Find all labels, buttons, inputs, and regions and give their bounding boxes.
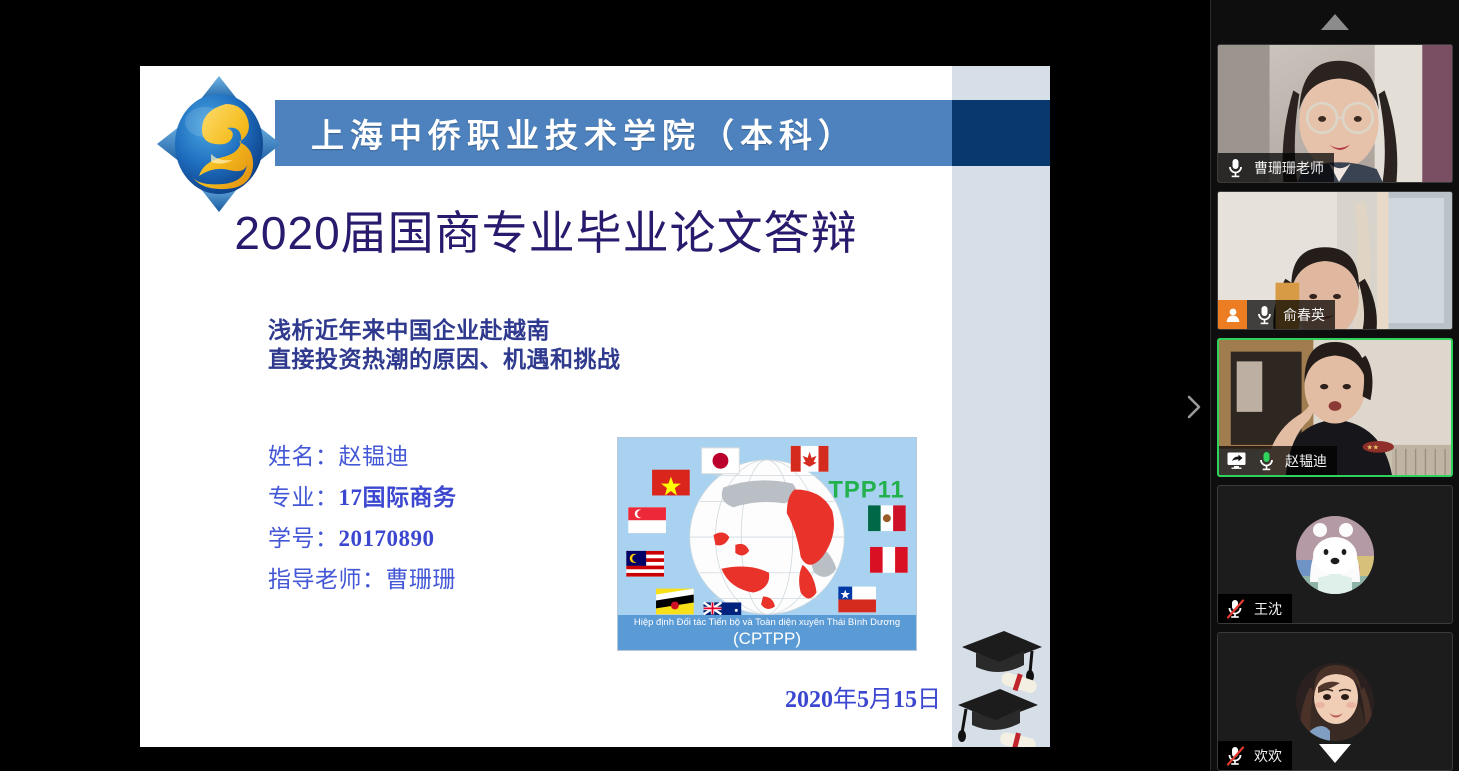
info-value-major: 17国际商务	[339, 485, 457, 510]
info-value-advisor: 曹珊珊	[386, 567, 457, 592]
info-value-student-id: 20170890	[339, 526, 435, 551]
info-row-major: 专业：17国际商务	[268, 477, 457, 518]
host-badge	[1218, 300, 1247, 329]
info-value-name: 赵韫迪	[339, 444, 410, 469]
triangle-down-icon	[1319, 744, 1351, 763]
app-root: 上海中侨职业技术学院（本科）	[0, 0, 1459, 771]
participant-badge-bar-2: 赵韫迪	[1219, 446, 1337, 475]
university-name: 上海中侨职业技术学院（本科）	[275, 109, 857, 157]
participant-filmstrip: 曹珊珊老师	[1210, 0, 1459, 771]
participant-tile-0[interactable]: 曹珊珊老师	[1217, 44, 1453, 183]
graduation-cap-icon	[952, 621, 1050, 747]
svg-text:TPP11: TPP11	[828, 476, 904, 503]
next-slide-chevron-right-icon[interactable]	[1180, 392, 1208, 422]
thesis-topic-line-1: 浅析近年来中国企业赴越南	[268, 316, 621, 345]
microphone-muted-icon	[1222, 596, 1248, 622]
cptpp-caption: Hiệp định Đối tác Tiến bộ và Toàn diện x…	[618, 615, 916, 650]
date-month: 5	[857, 687, 869, 713]
participant-tile-1[interactable]: 俞春英	[1217, 191, 1453, 330]
slide-main-title: 2020届国商专业毕业论文答辩	[140, 197, 952, 263]
participant-name-0: 曹珊珊老师	[1254, 158, 1324, 178]
slide-right-rail-accent	[952, 100, 1050, 166]
participant-name-2: 赵韫迪	[1285, 451, 1327, 471]
participant-tile-3[interactable]: 王沈	[1217, 485, 1453, 624]
participant-name-1: 俞春英	[1283, 305, 1325, 325]
filmstrip-scroll-down-button[interactable]	[1211, 735, 1459, 771]
presentation-slide: 上海中侨职业技术学院（本科）	[140, 66, 1050, 747]
info-row-student-id: 学号：20170890	[268, 518, 457, 559]
date-month-unit: 月	[869, 687, 893, 713]
participant-badge-bar-0: 曹珊珊老师	[1218, 153, 1334, 182]
info-label-major: 专业：	[268, 485, 339, 510]
info-label-student-id: 学号：	[268, 526, 339, 551]
date-year: 2020	[785, 687, 833, 713]
microphone-icon	[1251, 302, 1277, 328]
filmstrip-scroll-up-button[interactable]	[1211, 0, 1459, 44]
participant-badge-bar-3: 王沈	[1218, 594, 1292, 623]
slide-header-band: 上海中侨职业技术学院（本科）	[275, 100, 952, 166]
triangle-up-icon	[1321, 14, 1349, 30]
thesis-topic-line-2: 直接投资热潮的原因、机遇和挑战	[268, 345, 621, 374]
microphone-icon	[1222, 155, 1248, 181]
screen-share-icon	[1223, 448, 1249, 474]
participant-badge-bar-1: 俞春英	[1218, 300, 1335, 329]
info-row-advisor: 指导老师：曹珊珊	[268, 559, 457, 600]
student-info-list: 姓名：赵韫迪 专业：17国际商务 学号：20170890 指导老师：曹珊珊	[268, 436, 457, 600]
svg-text:★★: ★★	[1366, 444, 1378, 452]
chevron-right-icon	[1186, 394, 1202, 420]
participant-name-3: 王沈	[1254, 599, 1282, 619]
polar-bear-avatar	[1296, 516, 1374, 594]
date-day-unit: 日	[917, 687, 941, 713]
date-year-unit: 年	[833, 687, 857, 713]
info-row-name: 姓名：赵韫迪	[268, 436, 457, 477]
thesis-topic: 浅析近年来中国企业赴越南 直接投资热潮的原因、机遇和挑战	[268, 316, 621, 374]
portrait-avatar	[1296, 663, 1374, 741]
cptpp-caption-line-2: (CPTPP)	[618, 629, 916, 649]
participant-tile-2[interactable]: ★★	[1217, 338, 1453, 477]
microphone-active-icon	[1253, 448, 1279, 474]
info-label-name: 姓名：	[268, 444, 339, 469]
cptpp-caption-line-1: Hiệp định Đối tác Tiến bộ và Toàn diện x…	[634, 617, 900, 628]
date-day: 15	[893, 687, 917, 713]
cptpp-globe-flags-image: TPP11	[617, 437, 917, 651]
shared-screen-stage: 上海中侨职业技术学院（本科）	[0, 0, 1210, 771]
presentation-date: 2020年5月15日	[785, 679, 941, 714]
person-icon	[1225, 307, 1241, 323]
university-logo-icon	[153, 70, 286, 218]
info-label-advisor: 指导老师：	[268, 567, 386, 592]
participant-tiles: 曹珊珊老师	[1211, 44, 1459, 771]
